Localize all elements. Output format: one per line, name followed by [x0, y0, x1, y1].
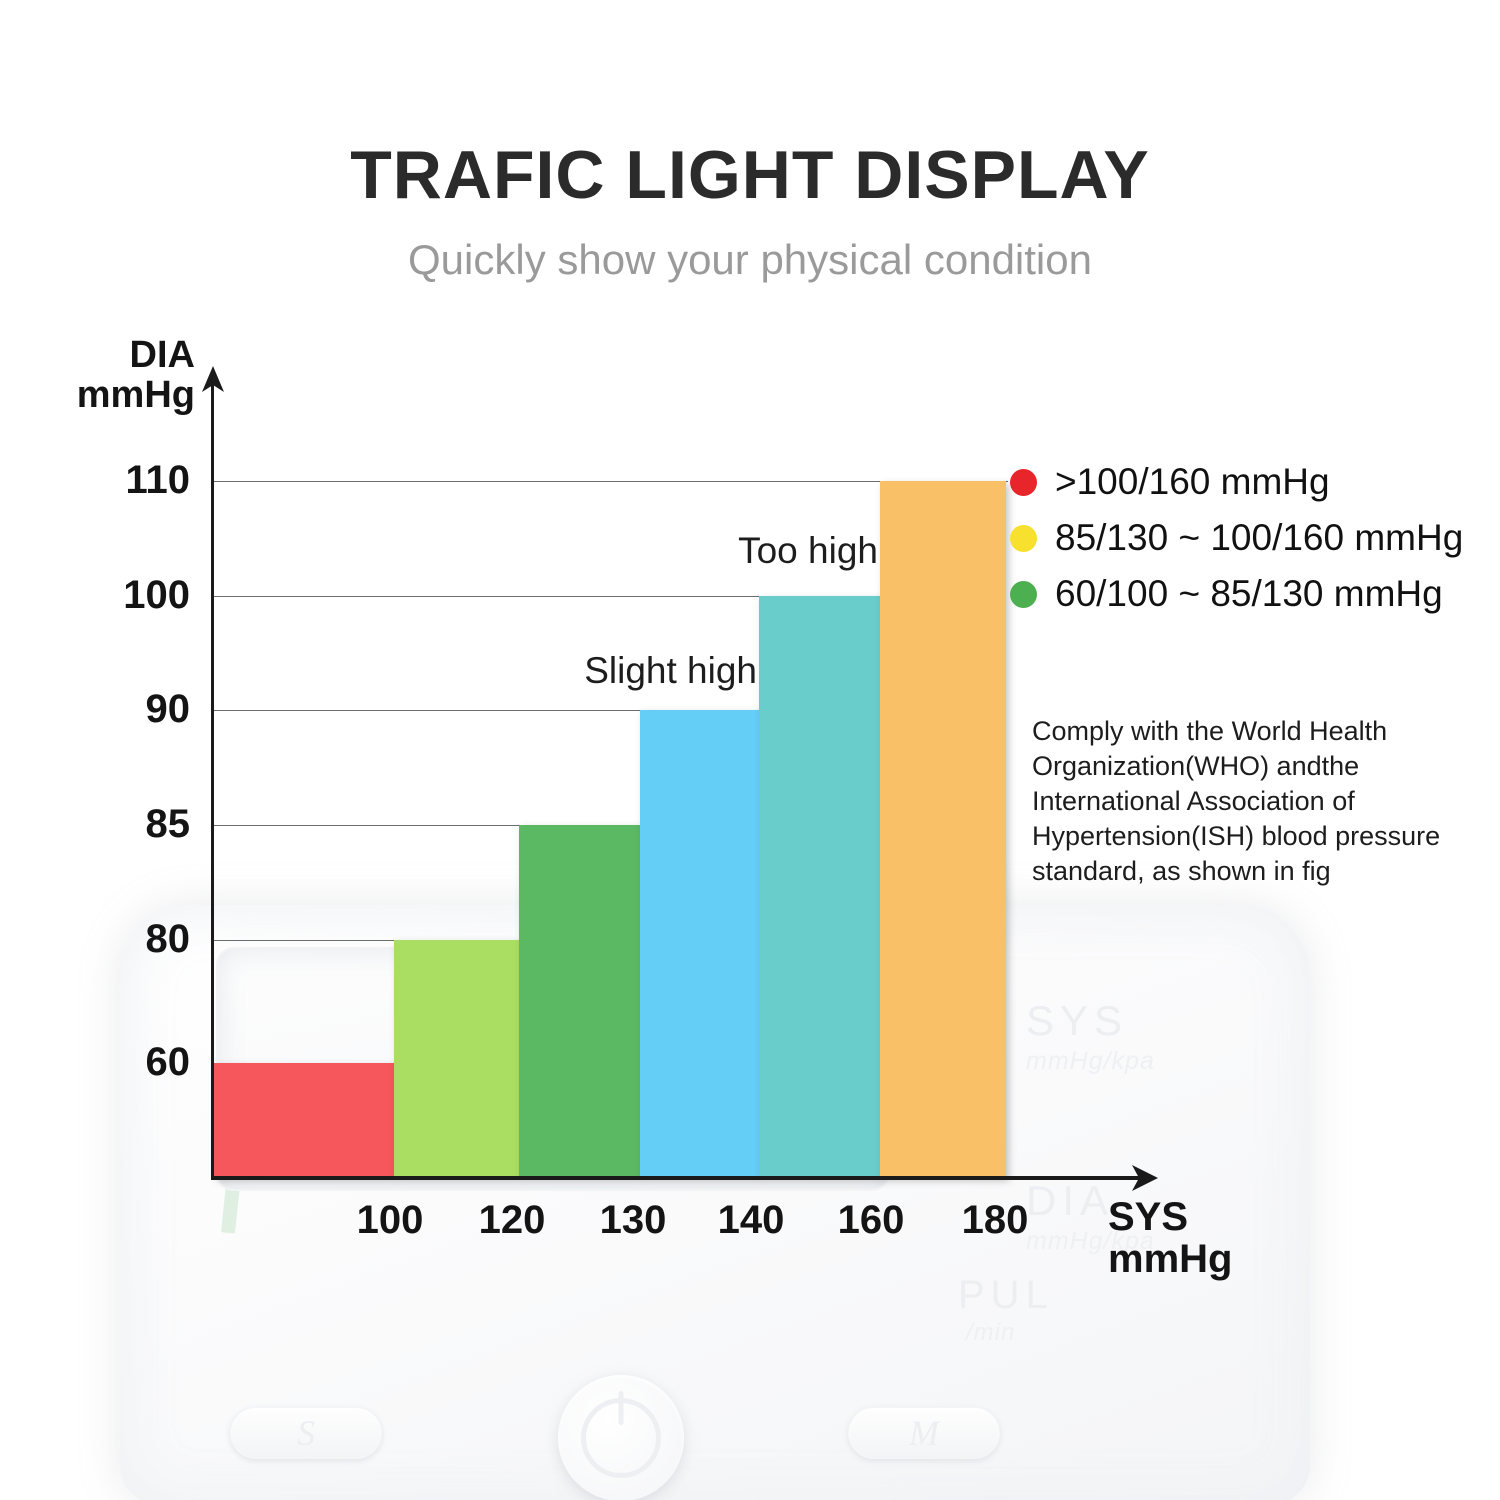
annotation-too-high: Too high: [580, 530, 878, 572]
legend-label-yellow: 85/130 ~ 100/160 mmHg: [1055, 517, 1463, 559]
y-tick-60: 60: [40, 1040, 190, 1085]
x-axis-line: [211, 1176, 1139, 1180]
compliance-note-line-3: International Association of: [1032, 784, 1452, 819]
x-axis-arrow-icon: [1128, 1164, 1158, 1192]
legend: >100/160 mmHg 85/130 ~ 100/160 mmHg 60/1…: [1010, 458, 1480, 626]
x-axis-title-line1: SYS: [1108, 1195, 1188, 1239]
y-tick-80: 80: [40, 917, 190, 962]
compliance-note: Comply with the World Health Organizatio…: [1032, 714, 1452, 889]
y-axis-title-line1: DIA: [130, 334, 195, 376]
bar-120: [394, 940, 519, 1178]
y-tick-110: 110: [40, 458, 190, 503]
bar-140: [640, 710, 759, 1178]
legend-item-yellow: 85/130 ~ 100/160 mmHg: [1010, 514, 1480, 562]
y-axis-title: DIA mmHg: [35, 336, 195, 415]
compliance-note-line-5: standard, as shown in fig: [1032, 854, 1452, 889]
x-axis-title-line2: mmHg: [1108, 1237, 1232, 1281]
compliance-note-line-2: Organization(WHO) andthe: [1032, 749, 1452, 784]
legend-item-red: >100/160 mmHg: [1010, 458, 1480, 506]
legend-label-green: 60/100 ~ 85/130 mmHg: [1055, 573, 1443, 615]
y-tick-100: 100: [40, 573, 190, 618]
bar-130: [519, 825, 640, 1178]
bar-180: [880, 481, 1006, 1178]
bar-100: [214, 1063, 394, 1178]
annotation-slight-high: Slight high: [450, 650, 757, 692]
x-tick-100: 100: [335, 1198, 445, 1243]
compliance-note-line-4: Hypertension(ISH) blood pressure: [1032, 819, 1452, 854]
y-tick-90: 90: [40, 687, 190, 732]
y-axis-title-line2: mmHg: [77, 374, 195, 416]
infographic-canvas: 1/ 10:00 75 SYS mmHg/kpa DIA mmHg/kpa PU…: [0, 0, 1500, 1500]
x-tick-180: 180: [940, 1198, 1050, 1243]
compliance-note-line-1: Comply with the World Health: [1032, 714, 1452, 749]
green-dot-icon: [1010, 581, 1037, 608]
x-tick-140: 140: [696, 1198, 806, 1243]
x-tick-130: 130: [578, 1198, 688, 1243]
bar-160: [759, 596, 880, 1178]
legend-item-green: 60/100 ~ 85/130 mmHg: [1010, 570, 1480, 618]
yellow-dot-icon: [1010, 525, 1037, 552]
y-axis-arrow-icon: [198, 366, 228, 394]
y-axis-line: [211, 382, 214, 1179]
x-axis-title: SYS mmHg: [1108, 1196, 1308, 1281]
legend-label-red: >100/160 mmHg: [1055, 461, 1330, 503]
x-tick-160: 160: [816, 1198, 926, 1243]
y-tick-85: 85: [40, 802, 190, 847]
x-tick-120: 120: [457, 1198, 567, 1243]
red-dot-icon: [1010, 469, 1037, 496]
